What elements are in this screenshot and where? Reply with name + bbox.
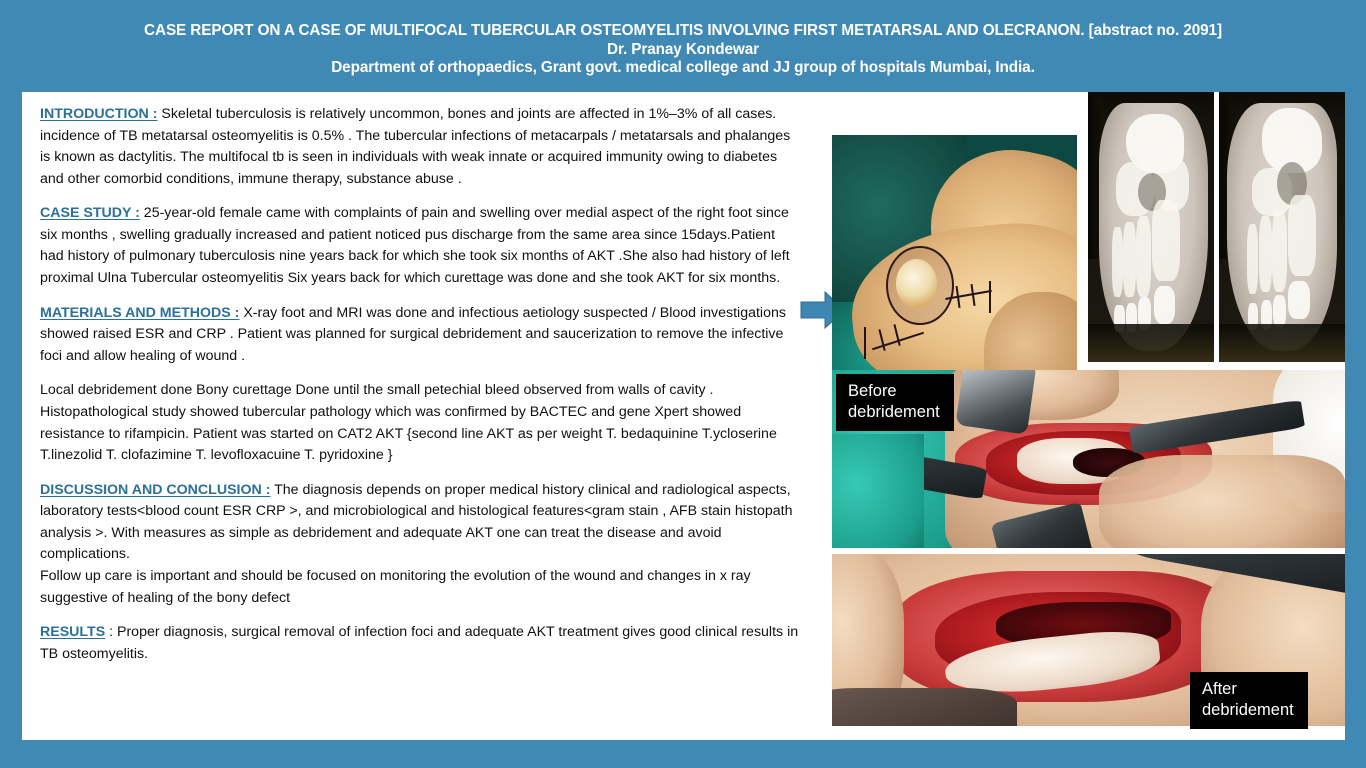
poster-title: CASE REPORT ON A CASE OF MULTIFOCAL TUBE…	[0, 22, 1366, 41]
section-materials-and-methods: MATERIALS AND METHODS : X-ray foot and M…	[40, 303, 802, 368]
xray-foot-oblique	[1219, 92, 1345, 362]
discussion-and-conclusion-body-2: Follow up care is important and should b…	[40, 566, 802, 609]
section-case-study: CASE STUDY : 25-year-old female came wit…	[40, 203, 802, 289]
poster-department: Department of orthopaedics, Grant govt. …	[0, 59, 1366, 78]
poster-content-panel: INTRODUCTION : Skeletal tuberculosis is …	[22, 92, 1345, 740]
caption-before-debridement: Before debridement	[836, 374, 954, 431]
section-results: RESULTS : Proper diagnosis, surgical rem…	[40, 622, 802, 665]
section-procedure: Local debridement done Bony curettage Do…	[40, 380, 802, 466]
case-study-body: 25-year-old female came with complaints …	[40, 205, 790, 286]
discussion-and-conclusion-heading: DISCUSSION AND CONCLUSION :	[40, 482, 270, 498]
image-column: Before debridement After debridement	[810, 92, 1345, 740]
poster-author: Dr. Pranay Kondewar	[0, 41, 1366, 60]
introduction-heading: INTRODUCTION :	[40, 106, 157, 122]
text-column: INTRODUCTION : Skeletal tuberculosis is …	[40, 104, 802, 728]
case-study-heading: CASE STUDY :	[40, 205, 140, 221]
procedure-body: Local debridement done Bony curettage Do…	[40, 382, 777, 463]
caption-after-debridement: After debridement	[1190, 672, 1308, 729]
xray-foot-ap	[1088, 92, 1214, 362]
xray-pair	[1088, 92, 1345, 362]
results-body: : Proper diagnosis, surgical removal of …	[40, 624, 798, 662]
section-introduction: INTRODUCTION : Skeletal tuberculosis is …	[40, 104, 802, 190]
poster-header: CASE REPORT ON A CASE OF MULTIFOCAL TUBE…	[0, 0, 1366, 92]
section-discussion-and-conclusion: DISCUSSION AND CONCLUSION : The diagnosi…	[40, 480, 802, 609]
results-heading: RESULTS	[40, 624, 105, 640]
clinical-foot-photo	[832, 135, 1077, 405]
materials-and-methods-heading: MATERIALS AND METHODS :	[40, 305, 239, 321]
